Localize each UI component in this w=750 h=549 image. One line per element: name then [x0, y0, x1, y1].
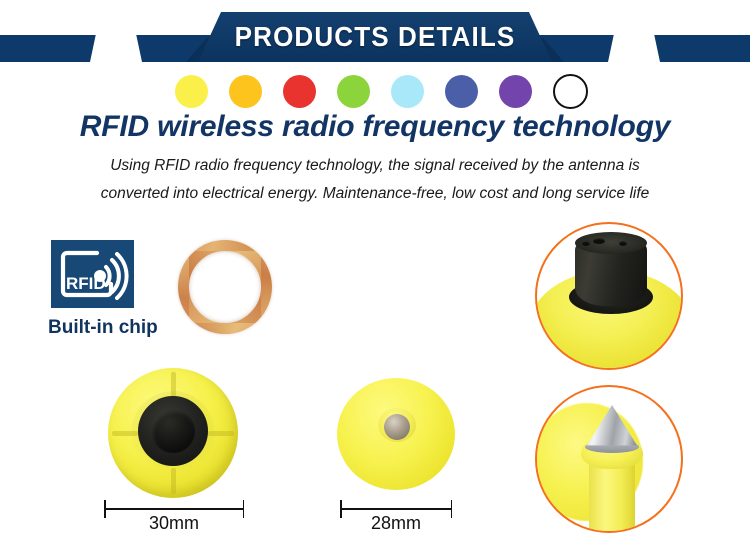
built-in-chip-caption: Built-in chip: [48, 317, 168, 339]
tag30-socket-bore: [151, 409, 195, 453]
post-hole-right: [619, 241, 627, 246]
dimension-bar: [340, 508, 452, 510]
photo-ear-tag-socket-closeup: [535, 222, 683, 370]
copper-antenna-coil: [178, 240, 272, 334]
color-swatch-green[interactable]: [337, 75, 370, 108]
color-swatch-light-blue[interactable]: [391, 75, 424, 108]
photo-ear-tag-spike-closeup: [535, 385, 683, 533]
color-swatch-yellow[interactable]: [175, 75, 208, 108]
color-swatch-blue-violet[interactable]: [445, 75, 478, 108]
header-banner: PRODUCTS DETAILS: [0, 0, 750, 70]
color-swatch-purple[interactable]: [499, 75, 532, 108]
color-swatch-amber[interactable]: [229, 75, 262, 108]
dimension-bar: [104, 508, 244, 510]
banner-notch-left: [90, 35, 142, 62]
dimension-label-30mm: 30mm: [84, 513, 264, 534]
rfid-card-signal-icon: RFID: [51, 240, 134, 308]
tag28-metal-pin-tip: [384, 414, 410, 440]
page-title: PRODUCTS DETAILS: [210, 12, 539, 62]
section-headline: RFID wireless radio frequency technology: [0, 110, 750, 144]
post-hole-left: [582, 241, 590, 246]
product-details-page: PRODUCTS DETAILS RFID wireless radio fre…: [0, 0, 750, 549]
product-male-ear-tag-pin: [337, 378, 455, 490]
color-swatch-row: [175, 74, 575, 108]
built-in-chip-block: RFID Built-in chip: [48, 240, 168, 339]
color-swatch-red[interactable]: [283, 75, 316, 108]
post-hole-center: [593, 238, 605, 244]
color-swatch-white[interactable]: [553, 74, 588, 109]
rfid-logo-text: RFID: [66, 274, 106, 293]
rfid-chip-logo: RFID: [51, 240, 134, 308]
section-description: Using RFID radio frequency technology, t…: [100, 152, 650, 208]
product-female-ear-tag-disc: [108, 368, 238, 498]
banner-notch-right: [608, 35, 660, 62]
dimension-label-28mm: 28mm: [326, 513, 466, 534]
